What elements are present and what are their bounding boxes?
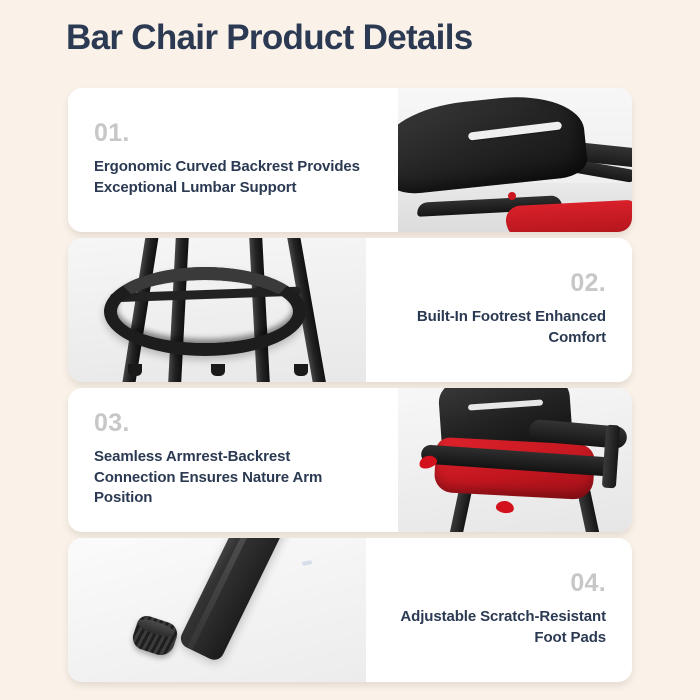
product-details-page: Bar Chair Product Details 01. Ergonomic … (0, 0, 700, 700)
photo-footrest-ring-highlight (104, 267, 307, 356)
feature-card-02[interactable]: 02. Built-In Footrest Enhanced Comfort (68, 238, 632, 382)
card-description: Ergonomic Curved Backrest Provides Excep… (94, 157, 372, 198)
product-photo-curved-backrest-icon (398, 88, 632, 232)
card-description: Adjustable Scratch-Resistant Foot Pads (392, 607, 606, 648)
card-text-panel: 04. Adjustable Scratch-Resistant Foot Pa… (366, 538, 632, 682)
page-title: Bar Chair Product Details (66, 16, 473, 60)
feature-card-04[interactable]: 04. Adjustable Scratch-Resistant Foot Pa… (68, 538, 632, 682)
photo-leg-foot (294, 364, 308, 376)
product-photo-foot-pad-icon (68, 538, 366, 682)
card-description: Seamless Armrest-Backrest Connection Ens… (94, 447, 372, 509)
card-description: Built-In Footrest Enhanced Comfort (392, 307, 606, 348)
product-photo-footrest-ring-icon (68, 238, 366, 382)
feature-card-03[interactable]: 03. Seamless Armrest-Backrest Connection… (68, 388, 632, 532)
card-text-panel: 03. Seamless Armrest-Backrest Connection… (68, 388, 398, 532)
card-number: 02. (570, 271, 606, 296)
card-number: 04. (570, 571, 606, 596)
product-photo-armrest-connection-icon (398, 388, 632, 532)
card-text-panel: 02. Built-In Footrest Enhanced Comfort (366, 238, 632, 382)
card-number: 01. (94, 121, 130, 146)
card-text-panel: 01. Ergonomic Curved Backrest Provides E… (68, 88, 398, 232)
photo-leg-foot (211, 364, 225, 376)
feature-card-list: 01. Ergonomic Curved Backrest Provides E… (68, 88, 632, 682)
photo-leg-foot (128, 364, 142, 376)
card-number: 03. (94, 411, 130, 436)
photo-red-cushion (505, 200, 632, 232)
feature-card-01[interactable]: 01. Ergonomic Curved Backrest Provides E… (68, 88, 632, 232)
